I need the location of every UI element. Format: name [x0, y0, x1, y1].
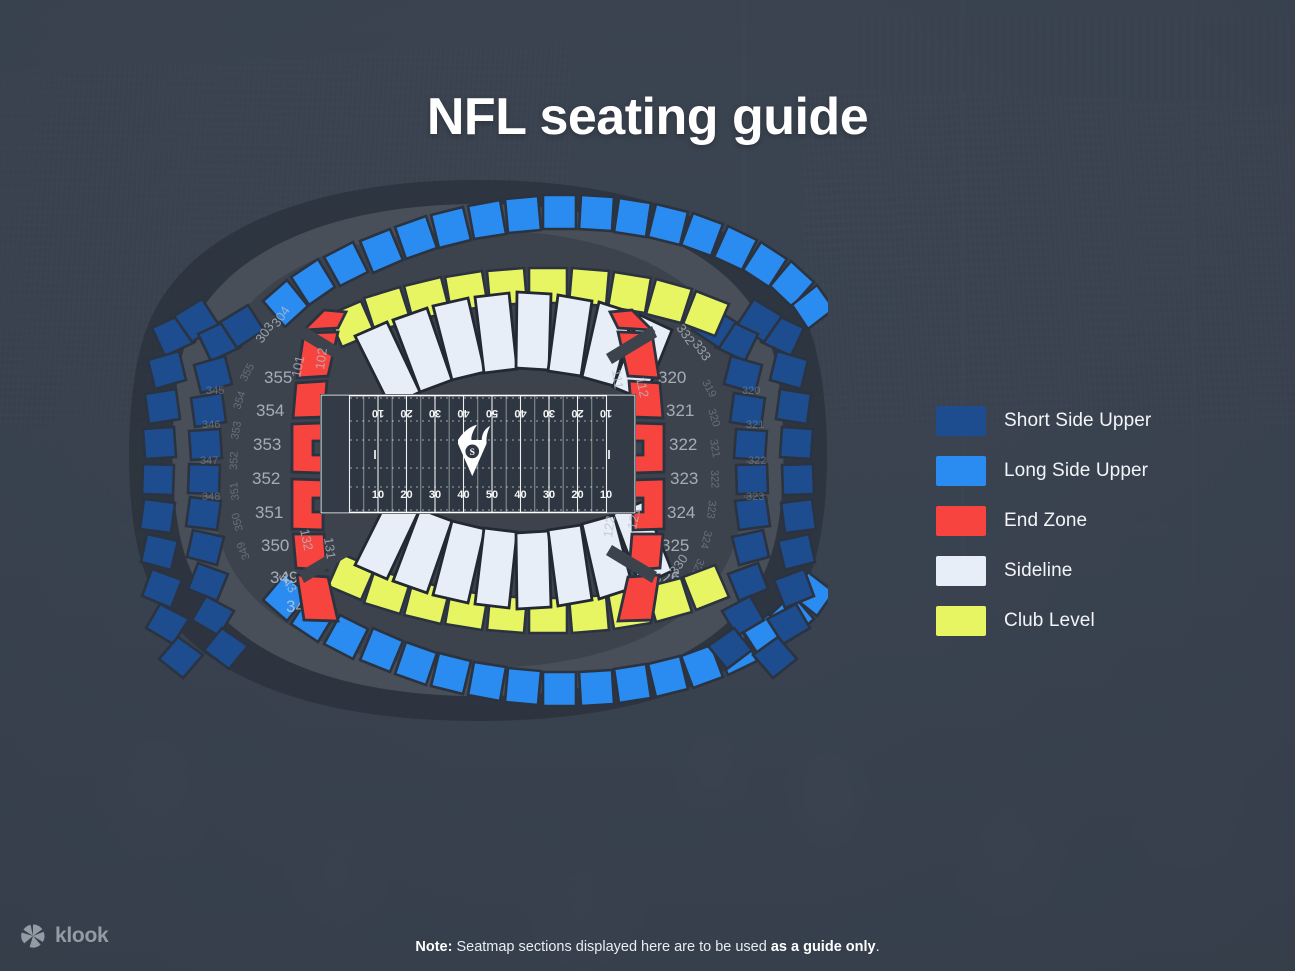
legend-label-end-zone: End Zone	[1004, 510, 1087, 532]
svg-text:350: 350	[261, 536, 289, 555]
svg-text:30: 30	[543, 407, 555, 419]
svg-text:347: 347	[200, 455, 218, 467]
svg-text:352: 352	[252, 469, 280, 488]
svg-text:324: 324	[667, 503, 695, 522]
legend-label-short-side-upper: Short Side Upper	[1004, 410, 1151, 432]
footer-note: Note: Seatmap sections displayed here ar…	[0, 939, 1295, 955]
svg-text:131: 131	[321, 536, 339, 560]
svg-text:323: 323	[704, 500, 718, 520]
svg-text:320: 320	[742, 385, 760, 397]
svg-text:10: 10	[600, 489, 612, 501]
brand-logo[interactable]: klook	[20, 923, 108, 949]
svg-text:102: 102	[312, 347, 330, 371]
svg-text:353: 353	[253, 435, 281, 454]
svg-text:111: 111	[609, 368, 627, 390]
swatch-club-level	[936, 606, 986, 636]
footer-note-body: Seatmap sections displayed here are to b…	[452, 939, 770, 955]
svg-text:40: 40	[457, 407, 469, 419]
svg-text:40: 40	[457, 489, 469, 501]
swatch-long-side-upper	[936, 456, 986, 486]
swatch-end-zone	[936, 506, 986, 536]
svg-text:322: 322	[708, 470, 721, 489]
legend-item-end-zone[interactable]: End Zone	[936, 496, 1236, 546]
svg-text:351: 351	[255, 503, 283, 522]
legend-label-long-side-upper: Long Side Upper	[1004, 460, 1148, 482]
seatmap-legend: Short Side Upper Long Side Upper End Zon…	[936, 396, 1236, 646]
svg-text:351: 351	[228, 481, 242, 501]
svg-text:352: 352	[228, 451, 241, 470]
svg-text:20: 20	[400, 407, 412, 419]
svg-text:10: 10	[372, 489, 384, 501]
svg-text:323: 323	[746, 491, 764, 503]
svg-text:322: 322	[669, 435, 697, 454]
svg-text:30: 30	[429, 489, 441, 501]
page-title: NFL seating guide	[0, 87, 1295, 147]
legend-item-short-side-upper[interactable]: Short Side Upper	[936, 396, 1236, 446]
svg-text:122: 122	[600, 515, 618, 539]
svg-text:40: 40	[514, 489, 526, 501]
svg-text:320: 320	[658, 368, 686, 387]
brand-name: klook	[55, 924, 108, 948]
legend-label-sideline: Sideline	[1004, 560, 1072, 582]
svg-text:30: 30	[429, 407, 441, 419]
legend-item-long-side-upper[interactable]: Long Side Upper	[936, 446, 1236, 496]
svg-text:10: 10	[600, 407, 612, 419]
svg-text:50: 50	[486, 407, 498, 419]
stadium-seatmap[interactable]: 355 354 353 352 351 350 349 345 346 347 …	[128, 178, 828, 723]
legend-item-sideline[interactable]: Sideline	[936, 546, 1236, 596]
svg-text:30: 30	[543, 489, 555, 501]
footer-note-prefix: Note:	[415, 939, 452, 955]
svg-text:321: 321	[746, 419, 764, 431]
svg-text:355: 355	[264, 368, 292, 387]
svg-text:321: 321	[666, 401, 694, 420]
swatch-short-side-upper	[936, 406, 986, 436]
svg-text:50: 50	[486, 489, 498, 501]
svg-text:323: 323	[670, 469, 698, 488]
swatch-sideline	[936, 556, 986, 586]
svg-text:322: 322	[748, 455, 766, 467]
svg-text:345: 345	[206, 385, 224, 397]
klook-pinwheel-icon	[20, 923, 46, 949]
svg-text:40: 40	[514, 407, 526, 419]
svg-text:348: 348	[202, 491, 220, 503]
footer-note-emphasis: as a guide only	[771, 939, 876, 955]
football-field: 10 20 30 40 50 40 30 20 10 10 20 30 40 5…	[320, 394, 636, 514]
legend-item-club-level[interactable]: Club Level	[936, 596, 1236, 646]
svg-text:20: 20	[400, 489, 412, 501]
svg-text:346: 346	[202, 419, 220, 431]
svg-text:20: 20	[571, 489, 583, 501]
legend-label-club-level: Club Level	[1004, 610, 1095, 632]
seatmap-svg: 355 354 353 352 351 350 349 345 346 347 …	[128, 178, 828, 723]
svg-text:S: S	[470, 448, 475, 458]
svg-text:10: 10	[372, 407, 384, 419]
svg-text:20: 20	[571, 407, 583, 419]
svg-text:354: 354	[256, 401, 284, 420]
footer-note-suffix: .	[876, 939, 880, 955]
